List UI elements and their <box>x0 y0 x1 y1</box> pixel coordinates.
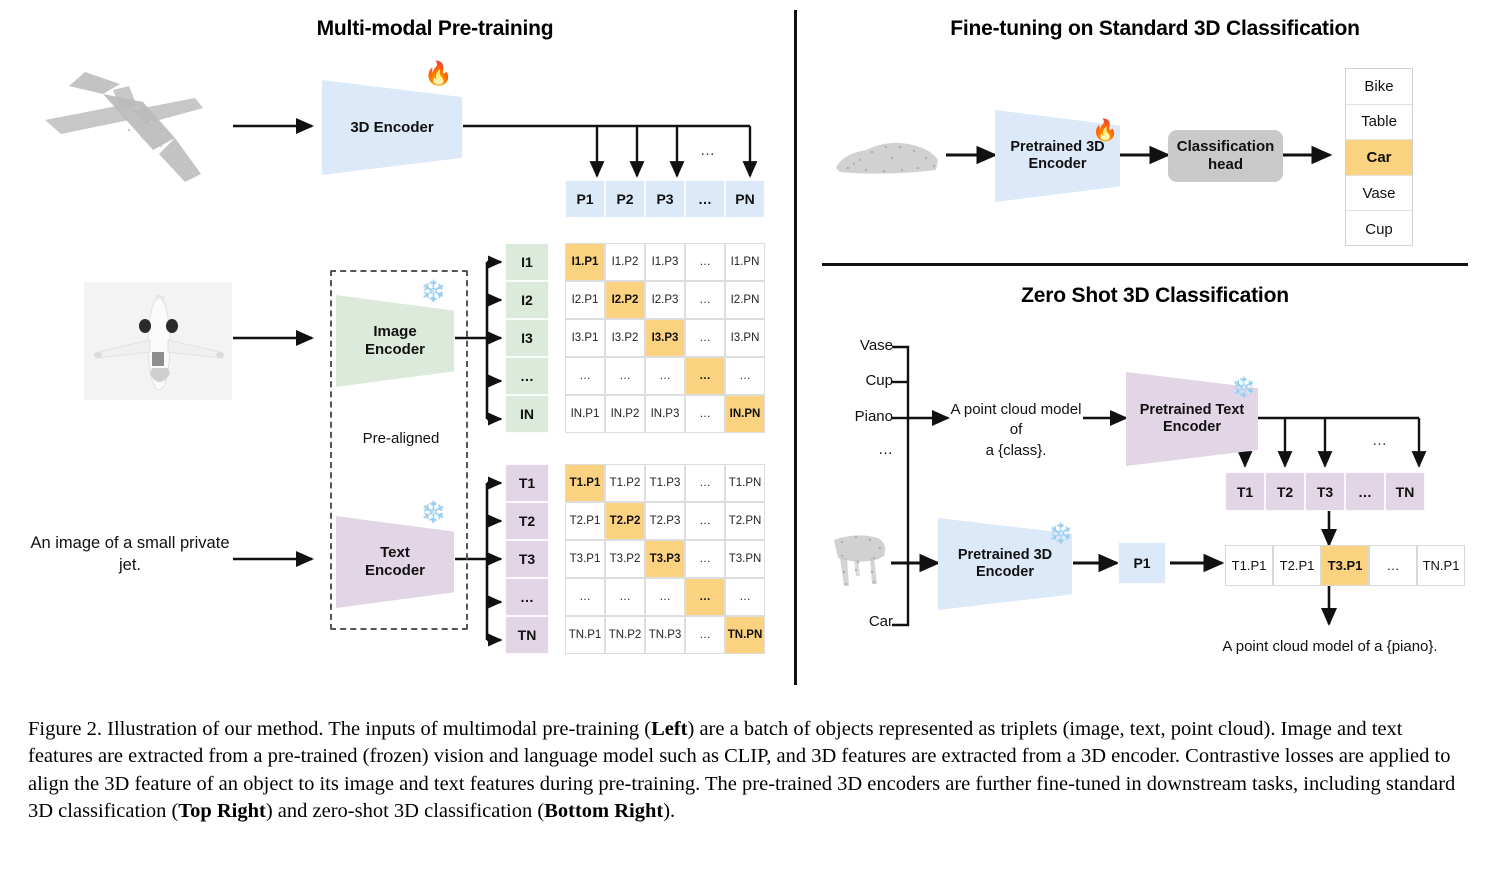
matrix-cell[interactable]: T3.PN <box>725 540 765 578</box>
zeroshot-text-chip[interactable]: TN <box>1385 472 1425 511</box>
text-feature-chip[interactable]: T2 <box>505 502 549 540</box>
matrix-cell[interactable]: I1.P1 <box>565 243 605 281</box>
caption-bold-left: Left <box>651 718 687 740</box>
matrix-cell[interactable]: IN.P3 <box>645 395 685 433</box>
encoder-3d-label: 3D Encoder <box>350 119 433 137</box>
zeroshot-class-item: Piano <box>827 408 893 425</box>
caption-bold-top-right: Top Right <box>178 800 266 822</box>
matrix-cell[interactable]: TN.P3 <box>645 616 685 654</box>
input-text-caption: An image of a small private jet. <box>30 532 230 577</box>
panel-title-top-right: Fine-tuning on Standard 3D Classificatio… <box>890 17 1420 41</box>
matrix-cell[interactable]: I1.PN <box>725 243 765 281</box>
image-feature-column: I1 I2 I3 … IN <box>505 243 549 433</box>
matrix-cell[interactable]: … <box>685 357 725 395</box>
fire-icon: 🔥 <box>424 62 453 85</box>
matrix-cell[interactable]: T1.P1 <box>565 464 605 502</box>
matrix-cell[interactable]: I2.P2 <box>605 281 645 319</box>
zeroshot-class-item: Vase <box>837 337 893 354</box>
piano-point-cloud <box>822 524 902 600</box>
matrix-cell[interactable]: T2.P3 <box>645 502 685 540</box>
matrix-cell[interactable]: T1.P2 <box>605 464 645 502</box>
similarity-cell[interactable]: TN.P1 <box>1417 545 1465 586</box>
matrix-cell[interactable]: … <box>565 357 605 395</box>
caption-part-4: ). <box>663 800 675 822</box>
matrix-cell[interactable]: T3.P2 <box>605 540 645 578</box>
matrix-cell[interactable]: IN.P1 <box>565 395 605 433</box>
matrix-cell[interactable]: … <box>605 578 645 616</box>
airplane-point-cloud <box>25 50 225 190</box>
image-feature-chip[interactable]: I2 <box>505 281 549 319</box>
encoder-pretrained-text-label-2: Encoder <box>1163 419 1221 436</box>
pre-aligned-label: Pre-aligned <box>341 430 461 447</box>
class-option[interactable]: Bike <box>1346 69 1412 105</box>
text-similarity-matrix: T1.P1 T1.P2 T1.P3 … T1.PN T2.P1 T2.P2 T2… <box>565 464 765 654</box>
similarity-cell[interactable]: T2.P1 <box>1273 545 1321 586</box>
matrix-cell[interactable]: I2.PN <box>725 281 765 319</box>
matrix-cell[interactable]: T1.PN <box>725 464 765 502</box>
text-feature-chip[interactable]: T1 <box>505 464 549 502</box>
zeroshot-text-chip[interactable]: T3 <box>1305 472 1345 511</box>
encoder-image-label-2: Encoder <box>365 341 425 359</box>
classification-head[interactable]: Classification head <box>1168 130 1283 182</box>
encoder-pretrained-3d-label-2: Encoder <box>1028 156 1086 173</box>
image-feature-chip[interactable]: … <box>505 357 549 395</box>
encoder-text-label-1: Text <box>380 544 410 562</box>
matrix-cell[interactable]: I1.P2 <box>605 243 645 281</box>
matrix-cell[interactable]: … <box>565 578 605 616</box>
figure-canvas: Multi-modal Pre-training <box>0 0 1490 700</box>
figure-caption: Figure 2. Illustration of our method. Th… <box>28 716 1468 826</box>
text-feature-chip[interactable]: T3 <box>505 540 549 578</box>
matrix-cell[interactable]: … <box>685 502 725 540</box>
point-feature-chip[interactable]: PN <box>725 180 765 218</box>
panel-title-left: Multi-modal Pre-training <box>255 17 615 41</box>
point-feature-chip[interactable]: P2 <box>605 180 645 218</box>
class-option[interactable]: Cup <box>1346 211 1412 247</box>
caption-bold-bottom-right: Bottom Right <box>544 800 663 822</box>
airplane-render-image <box>84 282 232 400</box>
class-option[interactable]: Table <box>1346 105 1412 141</box>
image-similarity-matrix: I1.P1 I1.P2 I1.P3 … I1.PN I2.P1 I2.P2 I2… <box>565 243 765 433</box>
class-option[interactable]: Vase <box>1346 176 1412 212</box>
matrix-cell[interactable]: I1.P3 <box>645 243 685 281</box>
similarity-cell-best[interactable]: T3.P1 <box>1321 545 1369 586</box>
point-feature-chip[interactable]: … <box>685 180 725 218</box>
matrix-cell[interactable]: T3.P1 <box>565 540 605 578</box>
encoder-pretrained-3d-zeroshot-label-2: Encoder <box>976 564 1034 581</box>
zeroshot-text-chip[interactable]: T2 <box>1265 472 1305 511</box>
caption-part-1: Figure 2. Illustration of our method. Th… <box>28 718 651 740</box>
image-feature-chip[interactable]: I3 <box>505 319 549 357</box>
matrix-cell[interactable]: … <box>685 464 725 502</box>
fire-icon: 🔥 <box>1092 120 1118 141</box>
class-prediction-list: Bike Table Car Vase Cup <box>1345 68 1413 246</box>
encoder-pretrained-3d-zeroshot-label-1: Pretrained 3D <box>958 547 1052 564</box>
encoder-image[interactable]: Image Encoder <box>336 295 454 387</box>
zeroshot-point-feature-chip[interactable]: P1 <box>1118 542 1166 584</box>
matrix-cell[interactable]: T2.PN <box>725 502 765 540</box>
point-feature-bus-ellipsis: … <box>700 142 715 159</box>
matrix-cell[interactable]: … <box>685 395 725 433</box>
point-feature-chip[interactable]: P1 <box>565 180 605 218</box>
snowflake-icon: ❄️ <box>420 281 446 302</box>
classification-head-label-2: head <box>1208 156 1243 174</box>
matrix-cell[interactable]: … <box>685 616 725 654</box>
zeroshot-text-chip[interactable]: T1 <box>1225 472 1265 511</box>
matrix-cell[interactable]: TN.P2 <box>605 616 645 654</box>
matrix-cell[interactable]: I2.P3 <box>645 281 685 319</box>
matrix-cell[interactable]: … <box>725 357 765 395</box>
matrix-cell[interactable]: I3.P2 <box>605 319 645 357</box>
encoder-image-label-1: Image <box>373 323 416 341</box>
matrix-cell[interactable]: … <box>685 243 725 281</box>
panel-title-bottom-right: Zero Shot 3D Classification <box>940 284 1370 308</box>
zeroshot-result-text: A point cloud model of a {piano}. <box>1180 638 1480 655</box>
zeroshot-class-item: Car <box>837 613 893 630</box>
zeroshot-text-feature-row: T1 T2 T3 … TN <box>1225 472 1425 511</box>
matrix-cell[interactable]: … <box>645 357 685 395</box>
panel-horizontal-divider <box>822 263 1468 266</box>
matrix-cell[interactable]: … <box>685 540 725 578</box>
text-feature-chip[interactable]: TN <box>505 616 549 654</box>
zeroshot-class-item: Cup <box>837 372 893 389</box>
point-feature-row: P1 P2 P3 … PN <box>565 180 765 218</box>
matrix-cell[interactable]: I3.PN <box>725 319 765 357</box>
caption-part-3: ) and zero-shot 3D classification ( <box>266 800 544 822</box>
matrix-cell[interactable]: TN.P1 <box>565 616 605 654</box>
matrix-cell[interactable]: I2.P1 <box>565 281 605 319</box>
class-option-selected[interactable]: Car <box>1346 140 1412 176</box>
matrix-cell[interactable]: … <box>685 578 725 616</box>
encoder-text[interactable]: Text Encoder <box>336 516 454 608</box>
matrix-cell[interactable]: … <box>605 357 645 395</box>
zeroshot-text-chip[interactable]: … <box>1345 472 1385 511</box>
image-feature-chip[interactable]: I1 <box>505 243 549 281</box>
panel-vertical-divider <box>794 10 797 685</box>
matrix-cell[interactable]: T1.P3 <box>645 464 685 502</box>
matrix-cell[interactable]: T2.P2 <box>605 502 645 540</box>
text-feature-chip[interactable]: … <box>505 578 549 616</box>
matrix-cell[interactable]: … <box>685 281 725 319</box>
classification-head-label-1: Classification <box>1177 138 1275 156</box>
zeroshot-text-bus-ellipsis: … <box>1372 432 1387 449</box>
matrix-cell[interactable]: I3.P3 <box>645 319 685 357</box>
prompt-template: A point cloud model of a {class}. <box>948 400 1084 461</box>
similarity-cell[interactable]: … <box>1369 545 1417 586</box>
snowflake-icon: ❄️ <box>1231 378 1256 398</box>
similarity-cell[interactable]: T1.P1 <box>1225 545 1273 586</box>
point-feature-chip[interactable]: P3 <box>645 180 685 218</box>
snowflake-icon: ❄️ <box>1048 524 1073 544</box>
text-feature-column: T1 T2 T3 … TN <box>505 464 549 654</box>
zeroshot-similarity-row: T1.P1 T2.P1 T3.P1 … TN.P1 <box>1225 545 1465 586</box>
matrix-cell[interactable]: T3.P3 <box>645 540 685 578</box>
image-feature-chip[interactable]: IN <box>505 395 549 433</box>
encoder-text-label-2: Encoder <box>365 562 425 580</box>
matrix-cell[interactable]: IN.PN <box>725 395 765 433</box>
encoder-3d[interactable]: 3D Encoder <box>322 80 462 175</box>
prompt-template-line-1: A point cloud model of <box>948 400 1084 441</box>
matrix-cell[interactable]: … <box>725 578 765 616</box>
encoder-pretrained-3d-label-1: Pretrained 3D <box>1010 139 1104 156</box>
prompt-template-line-2: a {class}. <box>948 441 1084 461</box>
snowflake-icon: ❄️ <box>420 502 446 523</box>
matrix-cell[interactable]: T2.P1 <box>565 502 605 540</box>
zeroshot-class-item: … <box>837 441 893 458</box>
encoder-pretrained-text-label-1: Pretrained Text <box>1140 402 1245 419</box>
matrix-cell[interactable]: TN.PN <box>725 616 765 654</box>
matrix-cell[interactable]: IN.P2 <box>605 395 645 433</box>
matrix-cell[interactable]: … <box>645 578 685 616</box>
matrix-cell[interactable]: … <box>685 319 725 357</box>
matrix-cell[interactable]: I3.P1 <box>565 319 605 357</box>
car-point-cloud <box>826 130 946 184</box>
